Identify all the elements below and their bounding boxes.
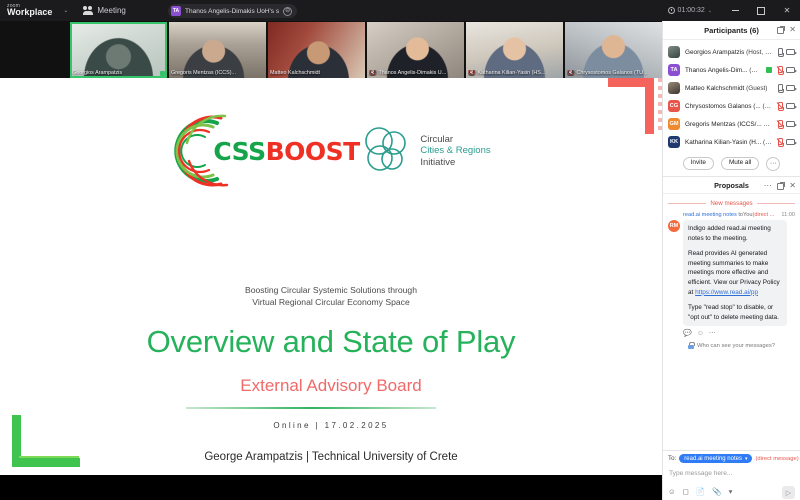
meeting-tab[interactable]: Meeting <box>83 6 125 15</box>
ccri-line-3: Initiative <box>420 157 490 168</box>
ccri-line-2: Cities & Regions <box>420 145 490 156</box>
participant-name: Gregoris Mentzas (ICCS/... (Guest) <box>685 121 772 128</box>
file-icon[interactable]: 📄 <box>696 487 705 496</box>
participant-row[interactable]: GM Gregoris Mentzas (ICCS/... (Guest) <box>663 115 800 133</box>
camera-icon[interactable] <box>786 85 795 91</box>
zoom-meeting-window: zoom Workplace ⌄ Meeting TA Thanos Angel… <box>0 0 800 500</box>
message-meta: 11:00 read.ai meeting notes toYou(direct… <box>683 212 795 218</box>
participant-name: Katharina Kilian-Yasin (H... (Guest) <box>685 139 772 146</box>
to-label: To: <box>668 455 676 462</box>
video-thumbnail-strip: Georgios Arampatzis Gregoris Mentzas (IC… <box>70 22 662 78</box>
muted-mic-icon: 🔇 <box>567 70 574 76</box>
direct-message-label: (direct message) <box>755 456 798 462</box>
ccri-wordmark: Circular Cities & Regions Initiative <box>420 134 490 168</box>
recipient-selector[interactable]: read.ai meeting notes ▾ <box>679 454 752 463</box>
screenshot-icon[interactable]: ◻ <box>683 487 689 496</box>
video-tile-name: Matteo Kalchschmidt <box>270 70 363 76</box>
popout-icon[interactable] <box>777 183 784 190</box>
participant-name: Georgios Arampatzis (Host, me) <box>685 49 772 56</box>
message-direct-tag: (direct ... <box>752 212 774 218</box>
privacy-policy-link[interactable]: https://www.read.ai/pp <box>695 289 758 296</box>
divider-line <box>757 203 795 204</box>
participant-row[interactable]: TA Thanos Angelis-Dim... (Guest) <box>663 61 800 79</box>
video-tile[interactable]: 🔇 Thanos Angelis-Dimakis U... <box>367 22 464 78</box>
send-button[interactable]: ▷ <box>782 486 795 499</box>
chevron-down-icon[interactable]: ▾ <box>729 487 733 496</box>
participants-header-actions: ✕ <box>777 26 796 34</box>
slide-tagline: Boosting Circular Systemic Solutions thr… <box>0 284 662 309</box>
video-tile-name-text: Thanos Angelis-Dimakis U... <box>378 70 446 76</box>
participant-name: Matteo Kalchschmidt (Guest) <box>685 85 772 92</box>
camera-icon[interactable] <box>786 103 795 109</box>
video-tile[interactable]: Georgios Arampatzis <box>70 22 167 78</box>
chat-message: RM Indigo added read.ai meeting notes to… <box>668 220 795 326</box>
message-bubble: Indigo added read.ai meeting notes to th… <box>683 220 787 326</box>
participant-row[interactable]: KK Katharina Kilian-Yasin (H... (Guest) <box>663 133 800 151</box>
slide-logos: CSSBOOST Circular Cities & <box>0 113 662 189</box>
new-messages-label: New messages <box>710 200 752 207</box>
invite-button[interactable]: Invite <box>683 157 714 169</box>
participant-name: Thanos Angelis-Dim... (Guest) <box>685 67 761 74</box>
slide-date-line: Online | 17.02.2025 <box>0 421 662 430</box>
logo-css-text: CSS <box>213 137 265 166</box>
lock-icon <box>688 342 694 349</box>
mic-muted-icon[interactable] <box>777 120 782 128</box>
chat-compose-area: To: read.ai meeting notes ▾ (direct mess… <box>663 450 800 500</box>
participant-status-icons <box>777 48 795 56</box>
participants-title: Participants (6) <box>704 26 759 35</box>
video-tile[interactable]: Gregoris Mentzas (ICCS)... <box>169 22 266 78</box>
message-paragraph: Type "read stop" to disable, or "opt out… <box>688 303 782 322</box>
recipient-name: read.ai meeting notes <box>684 456 742 462</box>
avatar <box>668 46 680 58</box>
avatar: GM <box>668 118 680 130</box>
slide-tagline-line-2: Virtual Regional Circular Economy Space <box>0 296 662 308</box>
slide-divider <box>186 407 436 409</box>
more-options-button[interactable]: ··· <box>766 157 780 171</box>
window-titlebar: zoom Workplace ⌄ Meeting TA Thanos Angel… <box>0 0 800 21</box>
close-button[interactable]: ✕ <box>774 0 800 21</box>
participants-action-bar: Invite Mute all ··· <box>663 151 800 177</box>
participant-status-icons <box>777 120 795 128</box>
leave-meeting-icon[interactable]: ⊖ <box>283 7 292 16</box>
emoji-reaction-icon[interactable]: ☺ <box>697 330 704 337</box>
ccri-line-1: Circular <box>420 134 490 145</box>
video-tile-name: Georgios Arampatzis <box>72 70 165 76</box>
video-tile-name-text: Chrysostomos Galanos (TU... <box>576 70 647 76</box>
participant-row[interactable]: Matteo Kalchschmidt (Guest) <box>663 79 800 97</box>
ccri-circles-icon <box>359 124 413 178</box>
minimize-button[interactable] <box>722 0 748 21</box>
presentation-slide: CSSBOOST Circular Cities & <box>0 78 662 475</box>
mic-active-indicator <box>160 71 165 76</box>
attach-icon[interactable]: 📎 <box>712 487 721 496</box>
video-tile-name: 🔇 Chrysostomos Galanos (TU... <box>567 70 660 76</box>
slide-title: Overview and State of Play <box>0 324 662 360</box>
meeting-timer-value: 01:00:32 <box>678 7 705 14</box>
camera-icon[interactable] <box>786 67 795 73</box>
close-chat-icon[interactable]: ✕ <box>789 182 796 190</box>
camera-icon[interactable] <box>786 49 795 55</box>
active-speaker-pill[interactable]: TA Thanos Angelis-Dimakis UoH's s ⊖ <box>168 4 297 18</box>
avatar <box>668 82 680 94</box>
message-sender[interactable]: read.ai meeting notes <box>683 212 737 218</box>
mic-muted-icon[interactable] <box>777 66 782 74</box>
reply-icon[interactable]: 💬 <box>683 329 692 337</box>
chat-recipient-row: To: read.ai meeting notes ▾ (direct mess… <box>668 454 795 463</box>
active-speaker-avatar: TA <box>171 6 181 16</box>
message-input[interactable]: Type message here... <box>668 466 795 487</box>
slide-tagline-line-1: Boosting Circular Systemic Solutions thr… <box>0 284 662 296</box>
mic-muted-icon[interactable] <box>777 102 782 110</box>
avatar: KK <box>668 136 680 148</box>
chevron-down-icon: ▾ <box>745 456 748 462</box>
who-can-see-label: Who can see your messages? <box>697 343 775 349</box>
message-paragraph: Read provides AI generated meeting summa… <box>688 249 782 297</box>
mic-muted-icon[interactable] <box>777 138 782 146</box>
shared-screen-stage: CSSBOOST Circular Cities & <box>0 78 662 500</box>
active-speaker-name: Thanos Angelis-Dimakis UoH's s <box>185 8 279 15</box>
zoom-logo: zoom Workplace <box>7 4 52 17</box>
video-tile[interactable]: 🔇 Katharina Kilian-Yasin (HS... <box>466 22 563 78</box>
message-time: 11:00 <box>781 212 795 218</box>
video-tile-name: Gregoris Mentzas (ICCS)... <box>171 70 264 76</box>
chat-title: Proposals <box>714 181 749 190</box>
participant-row[interactable]: CG Chrysostomos Galanos (... (Guest) <box>663 97 800 115</box>
css-boost-logo: CSSBOOST <box>171 113 331 189</box>
video-tile-name: 🔇 Katharina Kilian-Yasin (HS... <box>468 70 561 76</box>
people-icon <box>83 6 93 15</box>
participant-name: Chrysostomos Galanos (... (Guest) <box>685 103 772 110</box>
message-paragraph: Indigo added read.ai meeting notes to th… <box>688 224 782 243</box>
mute-all-button[interactable]: Mute all <box>721 157 759 169</box>
video-tile[interactable]: 🔇 Chrysostomos Galanos (TU... <box>565 22 662 78</box>
participant-row[interactable]: Georgios Arampatzis (Host, me) <box>663 43 800 61</box>
chat-header-actions: ⋯ ✕ <box>764 182 796 190</box>
divider-line <box>668 203 706 204</box>
message-action-row: 💬 ☺ ⋯ <box>683 329 795 337</box>
logo-boost-text: BOOST <box>266 137 360 166</box>
timer-chevron-down-icon[interactable]: ⌄ <box>708 8 712 14</box>
emoji-icon[interactable]: ☺ <box>668 487 676 496</box>
camera-icon[interactable] <box>786 139 795 145</box>
clock-icon <box>668 7 675 14</box>
css-boost-wordmark: CSSBOOST <box>213 137 359 166</box>
popout-icon[interactable] <box>777 27 784 34</box>
muted-mic-icon: 🔇 <box>468 70 475 76</box>
avatar: RM <box>668 220 680 232</box>
video-tile[interactable]: Matteo Kalchschmidt <box>268 22 365 78</box>
slide-subtitle: External Advisory Board <box>0 376 662 396</box>
workspace-chevron-down-icon[interactable]: ⌄ <box>63 7 68 14</box>
new-messages-divider: New messages <box>668 200 795 207</box>
zoom-logo-main: Workplace <box>7 8 52 17</box>
slide-presenter: George Arampatzis | Technical University… <box>0 451 662 463</box>
who-can-see-notice[interactable]: Who can see your messages? <box>668 342 795 349</box>
avatar: CG <box>668 100 680 112</box>
maximize-button[interactable] <box>748 0 774 21</box>
participants-panel-header: Participants (6) ✕ <box>663 21 800 40</box>
meeting-timer[interactable]: 01:00:32 ⌄ <box>668 7 712 14</box>
participant-status-icons <box>777 84 795 92</box>
mic-icon[interactable] <box>777 84 782 92</box>
participant-status-icons <box>777 138 795 146</box>
message-more-icon[interactable]: ⋯ <box>709 329 716 337</box>
video-tile-name: 🔇 Thanos Angelis-Dimakis U... <box>369 70 462 76</box>
compose-toolbar: ☺ ◻ 📄 📎 ▾ ▷ <box>668 487 795 496</box>
video-tile-name-text: Katharina Kilian-Yasin (HS... <box>477 70 545 76</box>
titlebar-right-controls: 01:00:32 ⌄ ✕ <box>668 0 800 21</box>
avatar: TA <box>668 64 680 76</box>
right-side-panel: Participants (6) ✕ Georgios Arampatzis (… <box>662 21 800 500</box>
muted-mic-icon: 🔇 <box>369 70 376 76</box>
participant-status-icons <box>777 102 795 110</box>
participant-status-icons <box>777 66 795 74</box>
chat-more-icon[interactable]: ⋯ <box>764 182 773 190</box>
sharing-badge-icon <box>766 67 772 73</box>
meeting-tab-label: Meeting <box>97 6 125 15</box>
close-participants-icon[interactable]: ✕ <box>789 26 796 34</box>
camera-icon[interactable] <box>786 121 795 127</box>
chat-panel-header: Proposals ⋯ ✕ <box>663 177 800 194</box>
participants-list: Georgios Arampatzis (Host, me) TA Thanos… <box>663 40 800 151</box>
mic-icon[interactable] <box>777 48 782 56</box>
ccri-logo: Circular Cities & Regions Initiative <box>359 124 490 178</box>
chat-message-list[interactable]: New messages 11:00 read.ai meeting notes… <box>663 194 800 450</box>
